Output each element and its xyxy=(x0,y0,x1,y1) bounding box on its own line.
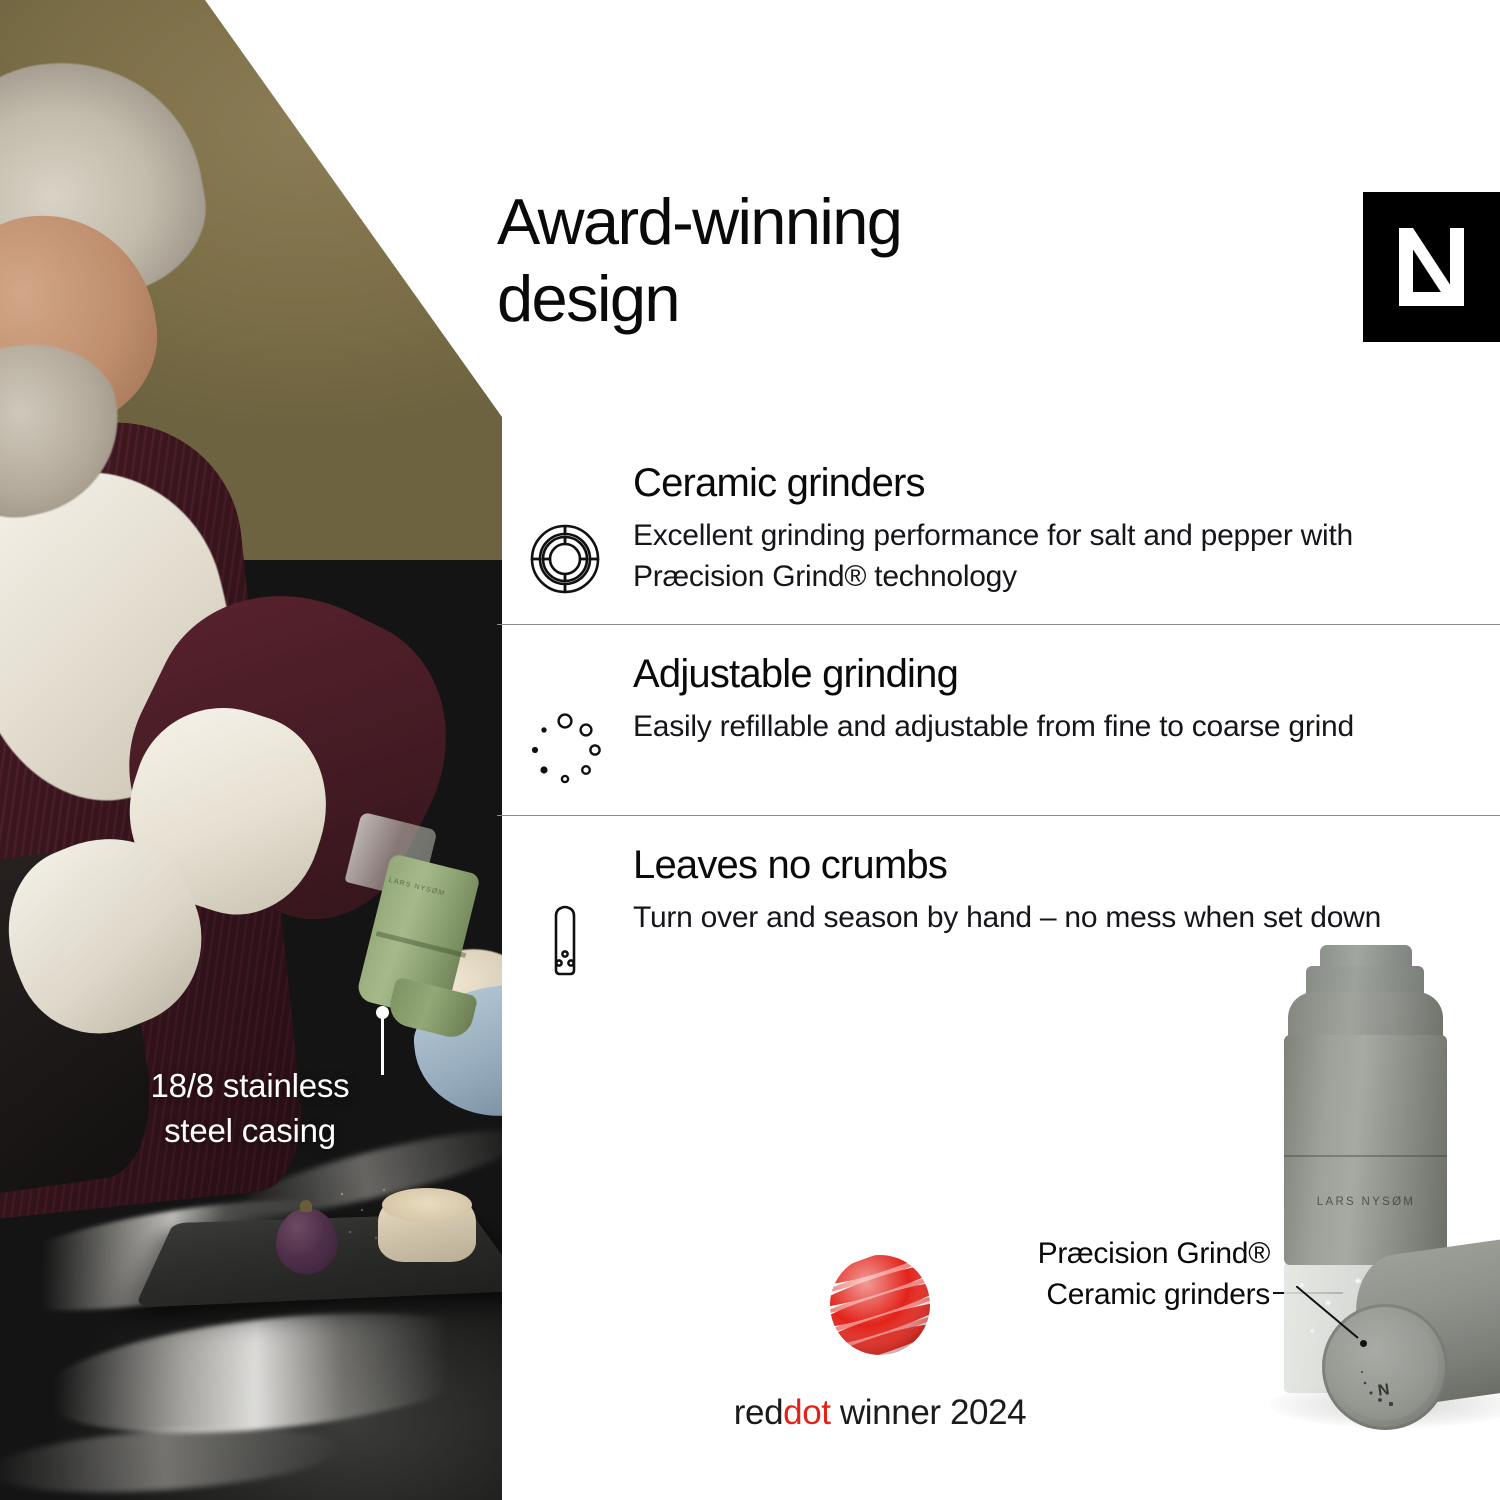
product-infographic: LARS NYSØM 18/8 stainless steel casing A… xyxy=(0,0,1500,1500)
feature-adjustable-grinding: Adjustable grinding Easily refillable an… xyxy=(497,625,1500,815)
feature-description: Excellent grinding performance for salt … xyxy=(633,515,1490,597)
feature-text-block: Leaves no crumbs Turn over and season by… xyxy=(633,840,1500,938)
reddot-caption-dot: dot xyxy=(783,1393,830,1432)
grinder-dial-logo: N xyxy=(1377,1381,1391,1400)
ceramic-burr-ring-icon xyxy=(497,458,633,598)
fig-stem xyxy=(300,1200,312,1212)
feature-title: Leaves no crumbs xyxy=(633,840,1490,890)
product-callout-endpoint-dot xyxy=(1360,1340,1367,1347)
reddot-caption-red: red xyxy=(734,1393,783,1432)
cheese-round-top xyxy=(382,1188,472,1222)
grinder-brand-text: LARS NYSØM xyxy=(1306,1196,1426,1208)
lifestyle-photo: LARS NYSØM xyxy=(0,0,502,1500)
product-callout-pointer xyxy=(1296,1286,1366,1344)
feature-title: Adjustable grinding xyxy=(633,649,1490,699)
grinder-body xyxy=(1284,1035,1447,1265)
grinder-body-seam xyxy=(1284,1155,1447,1157)
grind-coarseness-dots-icon xyxy=(497,649,633,789)
reddot-caption: reddot winner 2024 xyxy=(700,1393,1060,1433)
brand-logo xyxy=(1363,192,1500,342)
feature-title: Ceramic grinders xyxy=(633,458,1490,508)
ln-monogram-icon xyxy=(1399,228,1464,306)
feature-ceramic-grinders: Ceramic grinders Excellent grinding perf… xyxy=(497,452,1500,624)
fig-fruit xyxy=(276,1208,338,1274)
feature-list: Ceramic grinders Excellent grinding perf… xyxy=(497,452,1500,990)
feature-text-block: Ceramic grinders Excellent grinding perf… xyxy=(633,458,1500,597)
product-photo-grinders: LARS NYSØM N xyxy=(1210,930,1500,1470)
page-title: Award-winning design xyxy=(497,183,1317,337)
feature-text-block: Adjustable grinding Easily refillable an… xyxy=(633,649,1500,747)
grinder-bottle-icon xyxy=(497,840,633,980)
reddot-caption-winner: winner 2024 xyxy=(831,1393,1027,1432)
photo-callout-label: 18/8 stainless steel casing xyxy=(40,1063,460,1153)
feature-description: Easily refillable and adjustable from fi… xyxy=(633,706,1490,747)
